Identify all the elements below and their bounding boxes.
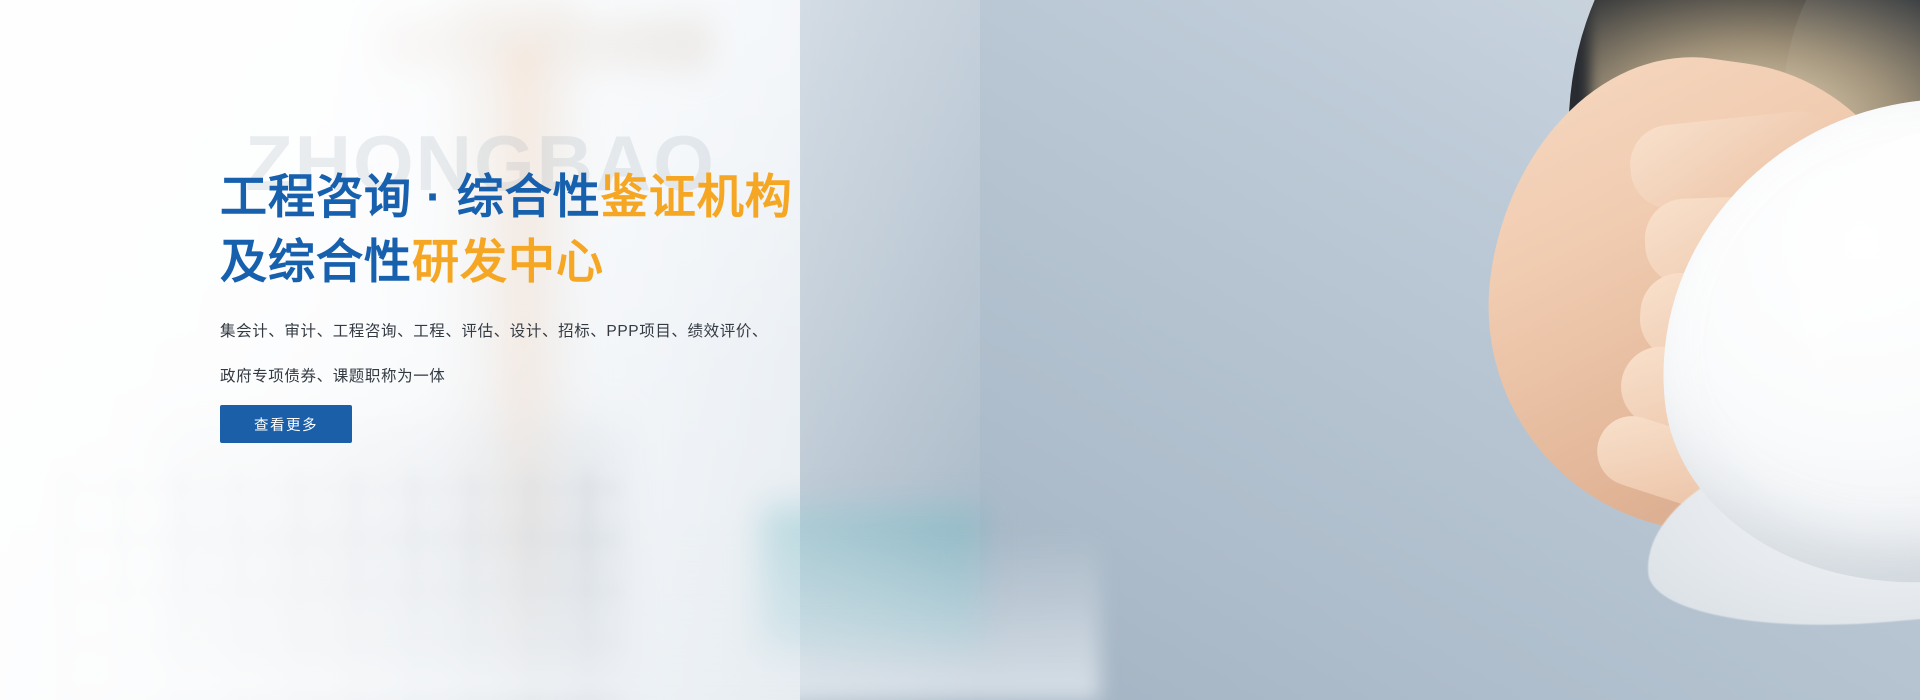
headline-line-1: 工程咨询 · 综合性鉴证机构 bbox=[220, 165, 980, 230]
description-line-2: 政府专项债券、课题职称为一体 bbox=[220, 355, 820, 400]
headline-line-2: 及综合性研发中心 bbox=[220, 230, 980, 295]
hero-content: ZHONGBAO 工程咨询 · 综合性鉴证机构 及综合性研发中心 集会计、审计、… bbox=[220, 0, 980, 700]
headline-line-1-orange: 鉴证机构 bbox=[601, 170, 793, 223]
headline-line-1-blue: 工程咨询 · 综合性 bbox=[220, 170, 601, 223]
hero-headline: 工程咨询 · 综合性鉴证机构 及综合性研发中心 bbox=[220, 165, 980, 295]
hero-description: 集会计、审计、工程咨询、工程、评估、设计、招标、PPP项目、绩效评价、 政府专项… bbox=[220, 310, 820, 400]
view-more-button[interactable]: 查看更多 bbox=[220, 405, 352, 443]
description-line-1: 集会计、审计、工程咨询、工程、评估、设计、招标、PPP项目、绩效评价、 bbox=[220, 310, 820, 355]
headline-line-2-blue: 及综合性 bbox=[220, 235, 412, 288]
headline-line-2-orange: 研发中心 bbox=[412, 235, 604, 288]
hero-banner: 中宝工程管理 ZHONGBAO 工程咨询 · 综合性鉴证机构 及综合性研发中心 … bbox=[0, 0, 1920, 700]
